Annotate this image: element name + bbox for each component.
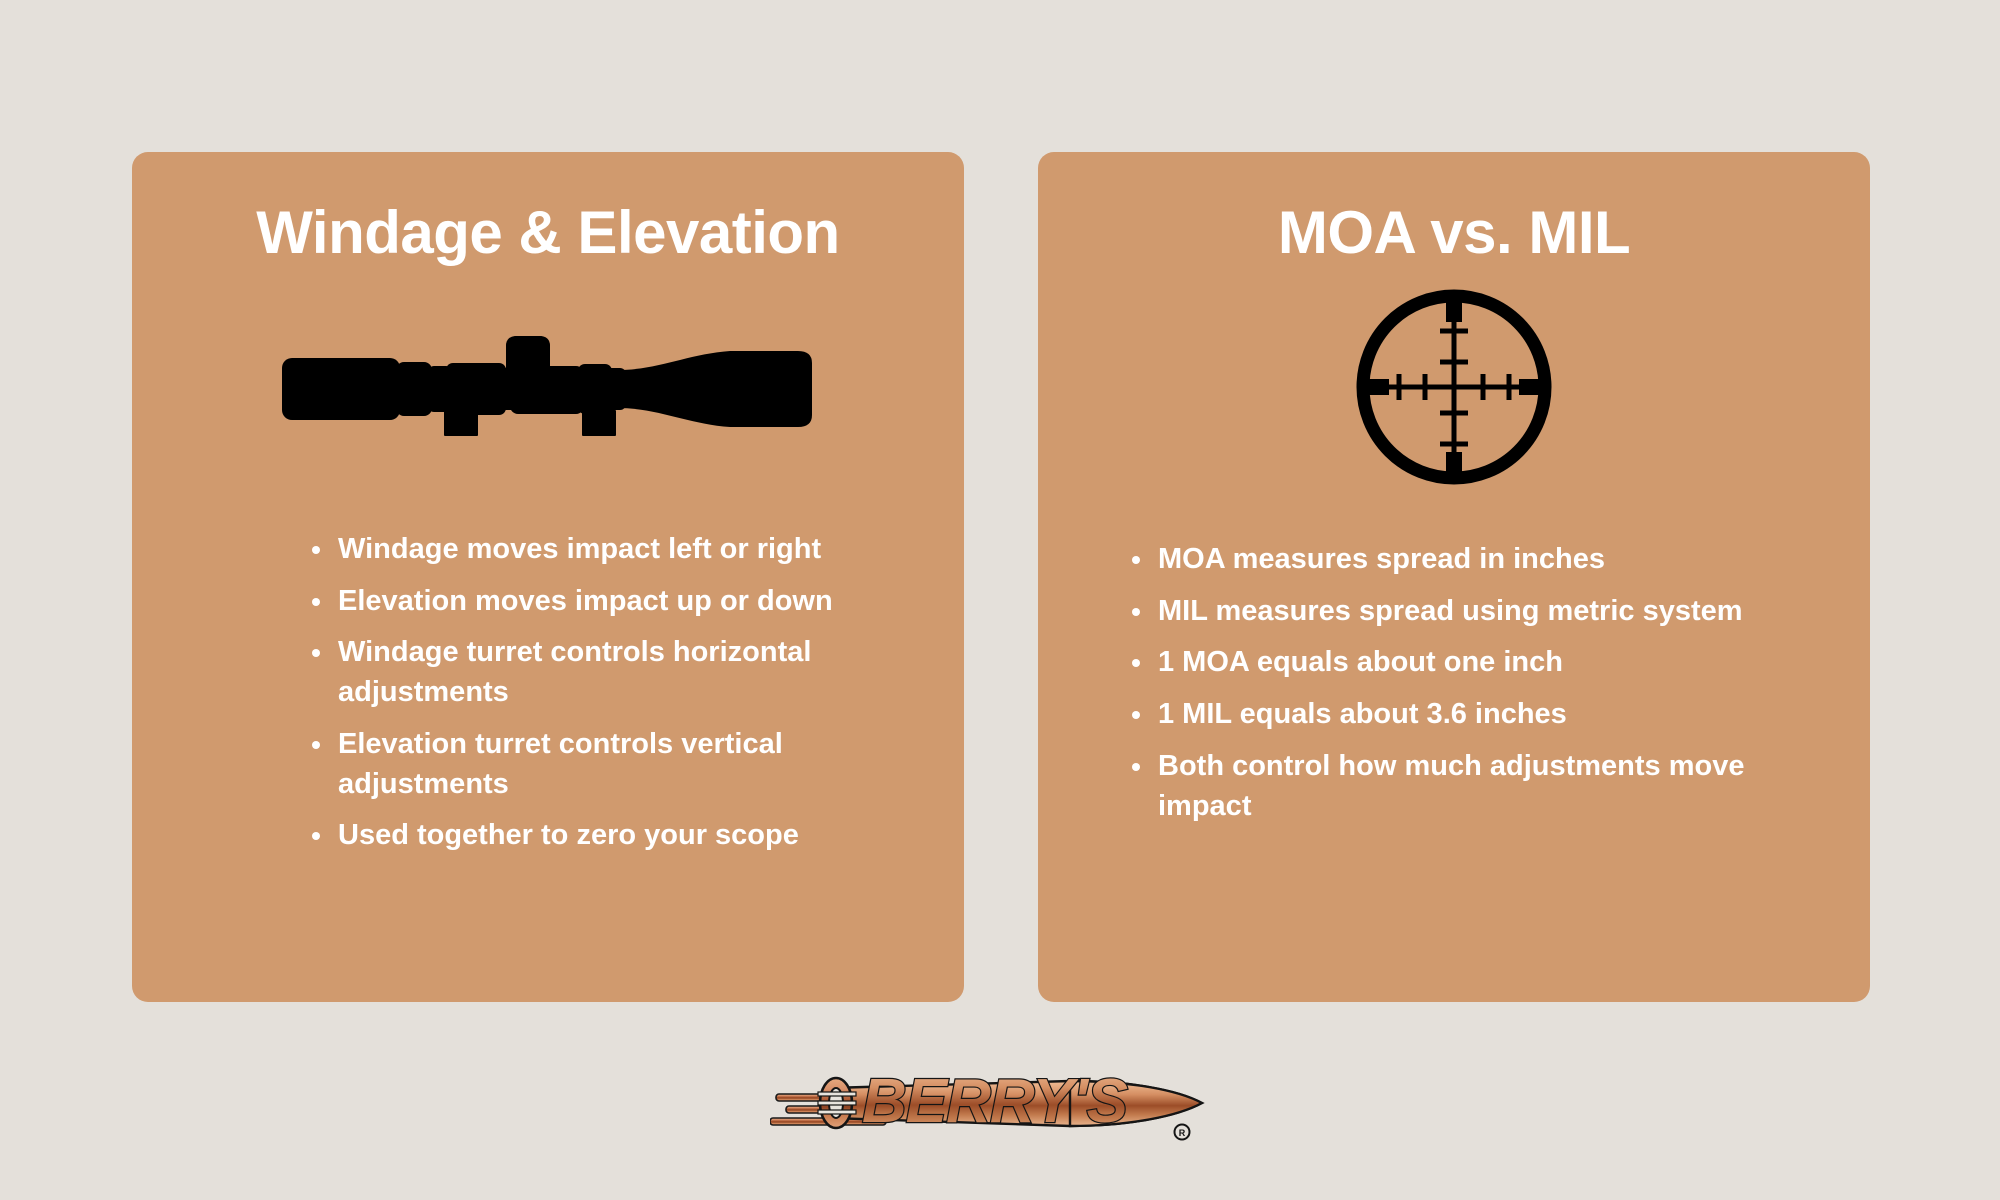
bullet-item: Windage moves impact left or right — [310, 530, 924, 570]
bullet-list-windage-elevation: Windage moves impact left or right Eleva… — [132, 530, 964, 868]
infographic-canvas: Windage & Elevation — [0, 0, 2000, 1200]
bullet-list-moa-vs-mil: MOA measures spread in inches MIL measur… — [1038, 540, 1870, 838]
rifle-scope-icon — [132, 308, 964, 458]
bullet-item: Used together to zero your scope — [310, 816, 924, 856]
scope-reticle-icon — [1038, 282, 1870, 492]
registered-trademark-icon: R — [1175, 1125, 1190, 1140]
bullet-item: Elevation turret controls vertical adjus… — [310, 725, 924, 804]
bullet-item: MOA measures spread in inches — [1130, 540, 1830, 580]
cards-row: Windage & Elevation — [132, 152, 1870, 1002]
card-title-moa-vs-mil: MOA vs. MIL — [1038, 200, 1870, 266]
bullet-item: Both control how much adjustments move i… — [1130, 747, 1830, 826]
brand-logo-area: BERRY'S R — [0, 1048, 2000, 1158]
berrys-logo: BERRY'S R — [770, 1048, 1230, 1158]
card-moa-vs-mil: MOA vs. MIL — [1038, 152, 1870, 1002]
bullet-item: Windage turret controls horizontal adjus… — [310, 633, 924, 712]
bullet-item: Elevation moves impact up or down — [310, 582, 924, 622]
berrys-wordmark: BERRY'S — [862, 1067, 1128, 1136]
bullet-item: MIL measures spread using metric system — [1130, 592, 1830, 632]
svg-text:R: R — [1179, 1128, 1186, 1138]
card-title-windage-elevation: Windage & Elevation — [132, 200, 964, 266]
bullet-item: 1 MIL equals about 3.6 inches — [1130, 695, 1830, 735]
card-windage-elevation: Windage & Elevation — [132, 152, 964, 1002]
bullet-item: 1 MOA equals about one inch — [1130, 643, 1830, 683]
